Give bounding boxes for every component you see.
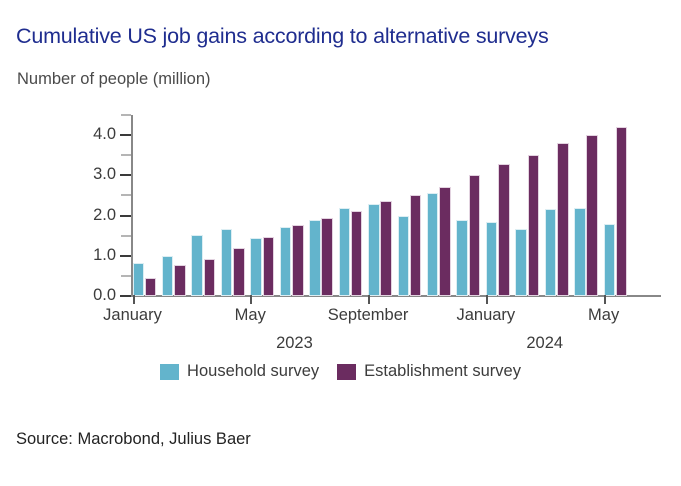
bar-household (456, 220, 468, 296)
y-axis-tick-label: 2.0 (32, 206, 116, 225)
bar-household (545, 209, 557, 296)
bar-group (427, 115, 456, 296)
y-tick-minor (121, 114, 131, 116)
legend-label: Household survey (187, 362, 319, 381)
bar-group (221, 115, 250, 296)
bar-household (250, 238, 262, 296)
y-tick-major (120, 174, 131, 176)
y-axis-tick-label: 0.0 (32, 286, 116, 305)
x-tick (368, 295, 370, 304)
plot-wrapper: 0.01.02.03.04.0 JanuaryMaySeptemberJanua… (0, 100, 681, 315)
legend-item-household[interactable]: Household survey (160, 362, 319, 381)
x-axis-tick-label: September (328, 306, 409, 325)
bar-household (133, 263, 145, 296)
bar-group (133, 115, 162, 296)
y-axis-tick-label: 3.0 (32, 165, 116, 184)
bar-group (309, 115, 338, 296)
bar-establishment (616, 127, 628, 296)
x-axis-year-label: 2023 (276, 334, 313, 353)
page-title: Cumulative US job gains according to alt… (16, 24, 549, 49)
bar-establishment (410, 195, 422, 296)
bar-establishment (528, 155, 540, 296)
bar-group (456, 115, 485, 296)
x-axis-year-label: 2024 (526, 334, 563, 353)
bar-group (486, 115, 515, 296)
bar-household (427, 193, 439, 296)
bar-establishment (557, 143, 569, 296)
bar-establishment (380, 201, 392, 296)
bar-household (515, 229, 527, 296)
bar-establishment (174, 265, 186, 296)
bar-household (398, 216, 410, 296)
bar-establishment (586, 135, 598, 296)
bar-household (604, 224, 616, 296)
y-tick-major (120, 295, 131, 297)
bar-household (221, 229, 233, 296)
bar-group (604, 115, 633, 296)
y-tick-major (120, 134, 131, 136)
bar-household (191, 235, 203, 296)
x-tick (133, 295, 135, 304)
y-tick-minor (121, 154, 131, 156)
bar-group (280, 115, 309, 296)
y-tick-major (120, 255, 131, 257)
bar-group (368, 115, 397, 296)
x-axis-tick-label: May (235, 306, 266, 325)
bar-group (515, 115, 544, 296)
legend-swatch-icon (337, 364, 356, 380)
bar-group (250, 115, 279, 296)
bar-group (398, 115, 427, 296)
bar-household (574, 208, 586, 296)
bars-plot-area (131, 115, 661, 296)
bar-household (486, 222, 498, 296)
y-tick-major (120, 215, 131, 217)
source-note: Source: Macrobond, Julius Baer (16, 430, 251, 449)
bar-household (280, 227, 292, 296)
y-tick-minor (121, 194, 131, 196)
bar-group (545, 115, 574, 296)
bar-establishment (292, 225, 304, 296)
bar-establishment (439, 187, 451, 296)
legend-label: Establishment survey (364, 362, 521, 381)
y-tick-minor (121, 275, 131, 277)
bar-group (574, 115, 603, 296)
x-axis-tick-label: May (588, 306, 619, 325)
bar-establishment (469, 175, 481, 296)
y-tick-minor (121, 235, 131, 237)
y-axis-tick-label: 1.0 (32, 246, 116, 265)
bar-establishment (233, 248, 245, 296)
bar-household (309, 220, 321, 296)
bar-establishment (351, 211, 363, 296)
bar-establishment (263, 237, 275, 296)
chart-subtitle: Number of people (million) (17, 70, 211, 89)
x-axis-tick-label: January (103, 306, 162, 325)
x-tick (486, 295, 488, 304)
chart-legend: Household surveyEstablishment survey (0, 362, 681, 381)
bar-group (339, 115, 368, 296)
bar-household (162, 256, 174, 296)
bar-establishment (498, 164, 510, 296)
y-axis-tick-label: 4.0 (32, 125, 116, 144)
legend-swatch-icon (160, 364, 179, 380)
bar-establishment (145, 278, 157, 297)
chart-container: Cumulative US job gains according to alt… (0, 0, 681, 486)
bar-establishment (321, 218, 333, 296)
bar-group (191, 115, 220, 296)
x-tick (250, 295, 252, 304)
legend-item-establishment[interactable]: Establishment survey (337, 362, 521, 381)
bar-establishment (204, 259, 216, 296)
bar-household (368, 204, 380, 296)
bar-group (633, 115, 662, 296)
x-tick (604, 295, 606, 304)
bar-household (339, 208, 351, 296)
bar-group (162, 115, 191, 296)
x-axis-tick-label: January (456, 306, 515, 325)
